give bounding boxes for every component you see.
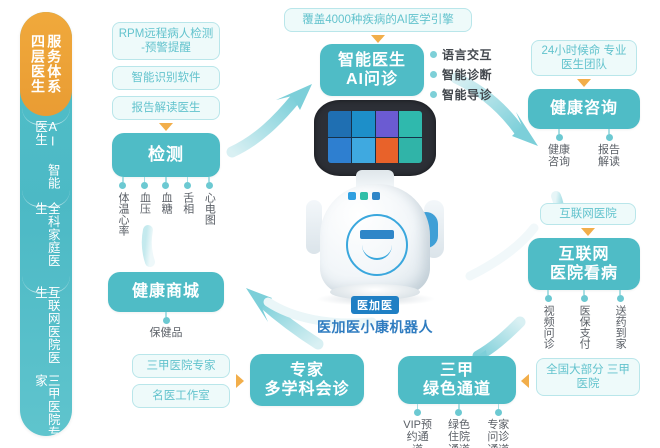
node-label-line2: AI问诊: [346, 70, 398, 89]
triangle-left-icon-green-channel: [521, 374, 529, 388]
node-label-line1: 专家: [290, 361, 324, 380]
robot-chest-ring: [346, 214, 408, 276]
triangle-down-icon-detection: [159, 123, 173, 131]
detection-sub-labels: 体温心率 血压 血糖 舌相 心电图: [112, 177, 220, 236]
triangle-down-icon-ai: [371, 35, 385, 43]
screen-tile: [352, 138, 375, 164]
sub-label: 血糖: [160, 192, 172, 214]
chip-24h-doctor-team[interactable]: 24小时候命 专业医生团队: [531, 40, 637, 76]
node-label-line1: 智能医生: [338, 51, 406, 70]
screen-tile: [399, 111, 422, 137]
chip-famous-doctor-studio[interactable]: 名医工作室: [132, 384, 230, 408]
sub-item[interactable]: 医保支付: [578, 290, 590, 349]
sub-label: 健康咨询: [546, 144, 572, 169]
sub-label: 医保支付: [578, 305, 590, 349]
node-label: 健康咨询: [550, 99, 618, 118]
sub-label: 视频问诊: [542, 305, 554, 349]
dot-icon: [606, 134, 613, 141]
node-label-line2: 多学科会诊: [264, 380, 349, 399]
node-health-consultation[interactable]: 健康咨询: [528, 89, 640, 129]
sub-label: 体温心率: [117, 192, 129, 236]
chip-label: 全国大部分 三甲医院: [541, 363, 635, 392]
sidebar-item-ai-doctor[interactable]: AI 智能医生: [20, 120, 72, 192]
dot-icon: [581, 295, 588, 302]
robot-branding: 医加医 医加医小康机器人: [300, 296, 450, 337]
robot-illustration: [300, 100, 450, 300]
screen-tile: [352, 111, 375, 137]
green-channel-sub-labels: VIP预约通道 绿色住院通道 专家问诊通道: [396, 404, 518, 448]
node-ai-consultation[interactable]: 智能医生 AI问诊: [320, 44, 424, 96]
sidebar-item-internet-hospital-doctor[interactable]: 互联网医院医生: [20, 286, 72, 374]
ai-feature-bullets: 语言交互 智能诊断 智能导诊: [430, 46, 492, 103]
bullet-label: 智能诊断: [442, 66, 492, 83]
chip-label: 覆盖4000种疾病的AI医学引擎: [302, 13, 453, 27]
node-internet-hospital-visit[interactable]: 互联网 医院看病: [528, 238, 640, 290]
screen-tile: [399, 138, 422, 164]
chip-label: 24小时候命 专业医生团队: [536, 44, 632, 73]
dot-icon: [556, 134, 563, 141]
sub-item[interactable]: 报告解读: [596, 129, 622, 169]
sub-item[interactable]: 绿色住院通道: [446, 404, 472, 448]
robot-tray-slot: [362, 244, 392, 260]
brand-logo: 医加医: [351, 296, 399, 314]
triangle-down-icon-internet-hospital: [581, 228, 595, 236]
robot-led-row: [348, 192, 380, 200]
dot-icon: [206, 182, 213, 189]
led-icon: [360, 192, 368, 200]
robot-body: [320, 184, 430, 294]
led-icon: [348, 192, 356, 200]
dot-icon: [141, 182, 148, 189]
chip-national-top-hospitals[interactable]: 全国大部分 三甲医院: [536, 358, 640, 396]
sub-label: 送药到家: [614, 305, 626, 349]
four-tier-doctor-sidebar[interactable]: 四层医生 服务体系 AI 智能医生 全科家庭医生 互联网医院医生 三甲医院专家: [20, 12, 72, 436]
node-label-line1: 互联网: [558, 245, 609, 264]
sub-item[interactable]: 体温心率: [117, 177, 129, 236]
robot-head: [314, 100, 436, 176]
dot-icon: [545, 295, 552, 302]
dot-icon: [162, 182, 169, 189]
chip-top-hospital-experts[interactable]: 三甲医院专家: [132, 354, 230, 378]
dot-icon: [455, 409, 462, 416]
sub-item[interactable]: 专家问诊通道: [485, 404, 511, 448]
robot-caption: 医加医小康机器人: [300, 317, 450, 337]
chip-rpm-remote-monitoring[interactable]: RPM远程病人检测 -预警提醒: [112, 22, 220, 60]
chip-label: 名医工作室: [152, 389, 210, 403]
sidebar-item-label: 三甲医院专家: [33, 374, 59, 436]
sidebar-header: 四层医生 服务体系: [20, 12, 72, 116]
dot-icon: [430, 71, 437, 78]
screen-tile: [376, 138, 399, 164]
dot-icon: [617, 295, 624, 302]
chip-internet-hospital[interactable]: 互联网医院: [540, 203, 636, 225]
sub-item[interactable]: 保健品: [150, 312, 183, 339]
sidebar-item-family-doctor[interactable]: 全科家庭医生: [20, 202, 72, 278]
chip-label: 互联网医院: [559, 207, 617, 221]
sub-label: 报告解读: [596, 144, 622, 169]
node-label: 健康商城: [132, 282, 200, 301]
sub-item[interactable]: 视频问诊: [542, 290, 554, 349]
led-icon: [372, 192, 380, 200]
chip-report-interpretation-doctor[interactable]: 报告解读医生: [112, 96, 220, 120]
chip-label: RPM远程病人检测 -预警提醒: [117, 27, 215, 56]
infographic-canvas: 四层医生 服务体系 AI 智能医生 全科家庭医生 互联网医院医生 三甲医院专家 …: [0, 0, 660, 448]
robot-screen[interactable]: [328, 111, 422, 163]
node-label-line2: 绿色通道: [423, 380, 491, 399]
bullet-item[interactable]: 智能诊断: [430, 66, 492, 83]
sidebar-item-label: 互联网医院医生: [33, 286, 59, 374]
triangle-right-icon-expert: [236, 374, 244, 388]
dot-icon: [430, 91, 437, 98]
robot-chest-logo: [360, 230, 394, 239]
node-expert-mdt[interactable]: 专家 多学科会诊: [250, 354, 364, 406]
chip-label: 报告解读医生: [132, 101, 201, 115]
sidebar-header-line2: 服务体系: [47, 34, 61, 94]
node-label-line2: 医院看病: [550, 264, 618, 283]
chip-label: 三甲医院专家: [147, 359, 216, 373]
dot-icon: [163, 317, 170, 324]
sub-label: 保健品: [150, 327, 183, 339]
sub-label: 血压: [138, 192, 150, 214]
sub-label: VIP预约通道: [403, 419, 433, 448]
sub-item[interactable]: 血压: [138, 177, 150, 236]
screen-tile: [328, 138, 351, 164]
dot-icon: [430, 51, 437, 58]
dot-icon: [495, 409, 502, 416]
decor-swoosh-right: [470, 228, 534, 276]
sub-item[interactable]: 送药到家: [614, 290, 626, 349]
node-label-line1: 三甲: [440, 361, 474, 380]
chip-ai-medical-engine[interactable]: 覆盖4000种疾病的AI医学引擎: [284, 8, 472, 32]
dot-icon: [414, 409, 421, 416]
triangle-down-icon-consult: [577, 79, 591, 87]
bullet-item[interactable]: 语言交互: [430, 46, 492, 63]
node-health-mall[interactable]: 健康商城: [108, 272, 224, 312]
node-detection[interactable]: 检测: [112, 133, 220, 177]
consult-sub-labels: 健康咨询 报告解读: [534, 129, 634, 169]
sidebar-item-label: AI 智能医生: [33, 120, 59, 192]
sub-item[interactable]: 血糖: [160, 177, 172, 236]
sidebar-item-top-hospital-expert[interactable]: 三甲医院专家: [20, 374, 72, 436]
node-green-channel[interactable]: 三甲 绿色通道: [398, 356, 516, 404]
screen-tile: [376, 111, 399, 137]
dot-icon: [119, 182, 126, 189]
sidebar-item-label: 全科家庭医生: [33, 202, 59, 278]
sub-item[interactable]: VIP预约通道: [403, 404, 433, 448]
sidebar-header-line1: 四层医生: [31, 34, 45, 94]
sub-label: 专家问诊通道: [485, 419, 511, 448]
sub-item[interactable]: 舌相: [181, 177, 193, 236]
screen-tile: [328, 111, 351, 137]
internet-hospital-sub-labels: 视频问诊 医保支付 送药到家: [530, 290, 638, 349]
bullet-label: 语言交互: [442, 46, 492, 63]
dot-icon: [184, 182, 191, 189]
node-label: 检测: [148, 145, 184, 165]
sub-item[interactable]: 心电图: [203, 177, 215, 236]
sub-label: 舌相: [181, 192, 193, 214]
sub-item[interactable]: 健康咨询: [546, 129, 572, 169]
chip-label: 智能识别软件: [132, 71, 201, 85]
mall-sub-labels: 保健品: [108, 312, 224, 339]
sub-label: 绿色住院通道: [446, 419, 472, 448]
sub-label: 心电图: [203, 192, 215, 225]
chip-smart-recognition-software[interactable]: 智能识别软件: [112, 66, 220, 90]
